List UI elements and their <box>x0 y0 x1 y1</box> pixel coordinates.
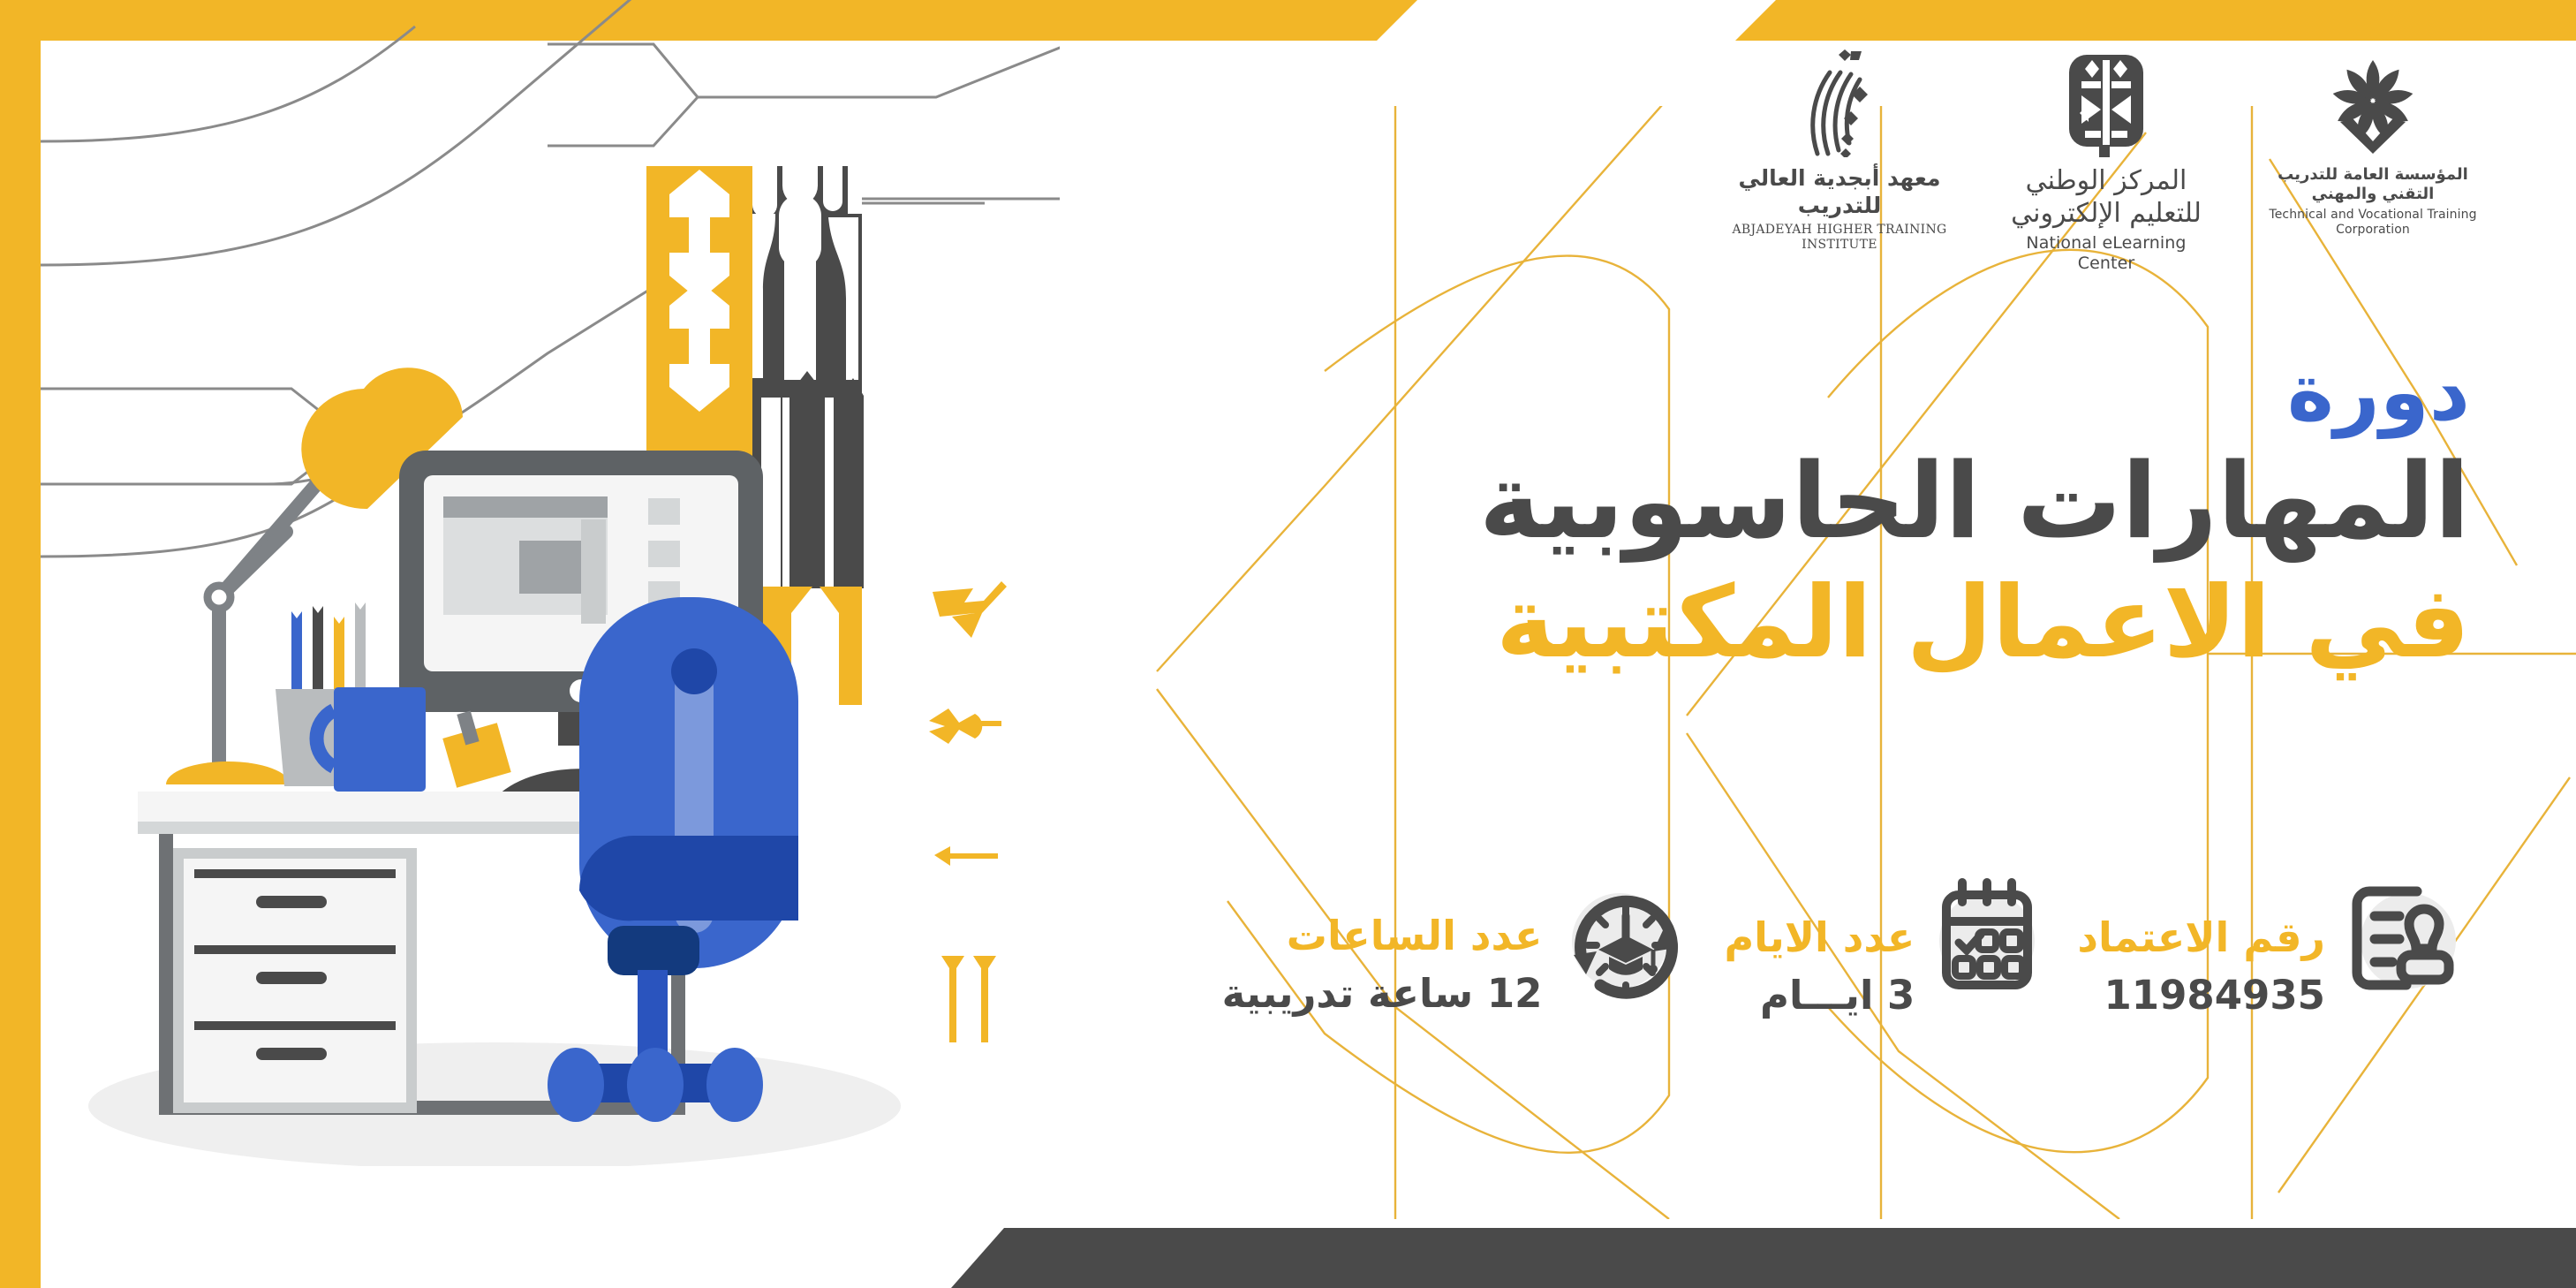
badge-label: رقم الاعتماد <box>2077 916 2325 958</box>
frame-left-bar <box>0 0 41 1288</box>
logo-english-name: ABJADEYAH HIGHER TRAINING INSTITUTE <box>1729 223 1950 253</box>
frame-top-bar-left <box>0 0 1417 41</box>
badge-days: عدد الايام 3 ايـــام <box>1724 870 2038 1017</box>
bottom-dark-bar <box>951 1228 2576 1288</box>
logo-english-name: National eLearning Center <box>1996 233 2217 274</box>
course-title-block: دورة المهارات الحاسوبية في الاعمال المكت… <box>1479 353 2470 681</box>
logo-arabic-name: المركز الوطني للتعليم الإلكتروني <box>2011 165 2202 230</box>
office-desk-workspace-illustration <box>53 336 1007 1166</box>
badge-value: 12 ساعة تدريبية <box>1222 973 1543 1014</box>
sticky-note <box>442 710 511 787</box>
badge-label: عدد الساعات <box>1222 914 1543 957</box>
logo-arabic-name: المؤسسة العامة للتدريب التقني والمهني <box>2262 165 2483 204</box>
badge-accreditation: رقم الاعتماد 11984935 <box>2077 870 2470 1017</box>
document-stamp-icon <box>2338 870 2470 1010</box>
frame-top-bar-right <box>1735 0 2576 41</box>
course-info-badges: رقم الاعتماد 11984935 <box>1222 870 2470 1017</box>
clock-graduation-cap-icon <box>1554 870 1685 1010</box>
badge-value: 11984935 <box>2077 974 2325 1016</box>
logo-technical-vocational-training-corporation: المؤسسة العامة للتدريب التقني والمهني Te… <box>2262 51 2483 238</box>
flower-star-logo-icon <box>2321 51 2425 157</box>
logo-national-elearning-center: المركز الوطني للتعليم الإلكتروني Nationa… <box>1996 51 2217 274</box>
title-kicker: دورة <box>1479 353 2470 433</box>
title-line-1: المهارات الحاسوبية <box>1479 440 2470 563</box>
logo-arabic-name: معهد أبجدية العالي للتدريب <box>1729 165 1950 219</box>
calligraphic-institute-logo-icon <box>1791 51 1888 157</box>
logo-abjadeyah-higher-training-institute: معهد أبجدية العالي للتدريب ABJADEYAH HIG… <box>1729 51 1950 253</box>
logo-english-name: Technical and Vocational Training Corpor… <box>2262 208 2483 238</box>
title-line-2: في الاعمال المكتبية <box>1479 564 2470 681</box>
feather-kufic-logo-icon <box>2069 51 2143 157</box>
calendar-check-icon <box>1927 870 2038 1010</box>
logo-row: المؤسسة العامة للتدريب التقني والمهني Te… <box>1729 51 2483 274</box>
badge-value: 3 ايـــام <box>1724 974 1915 1016</box>
badge-label: عدد الايام <box>1724 916 1915 958</box>
badge-hours: عدد الساعات 12 ساعة تدريبية <box>1222 870 1686 1015</box>
course-banner: المؤسسة العامة للتدريب التقني والمهني Te… <box>0 0 2576 1288</box>
